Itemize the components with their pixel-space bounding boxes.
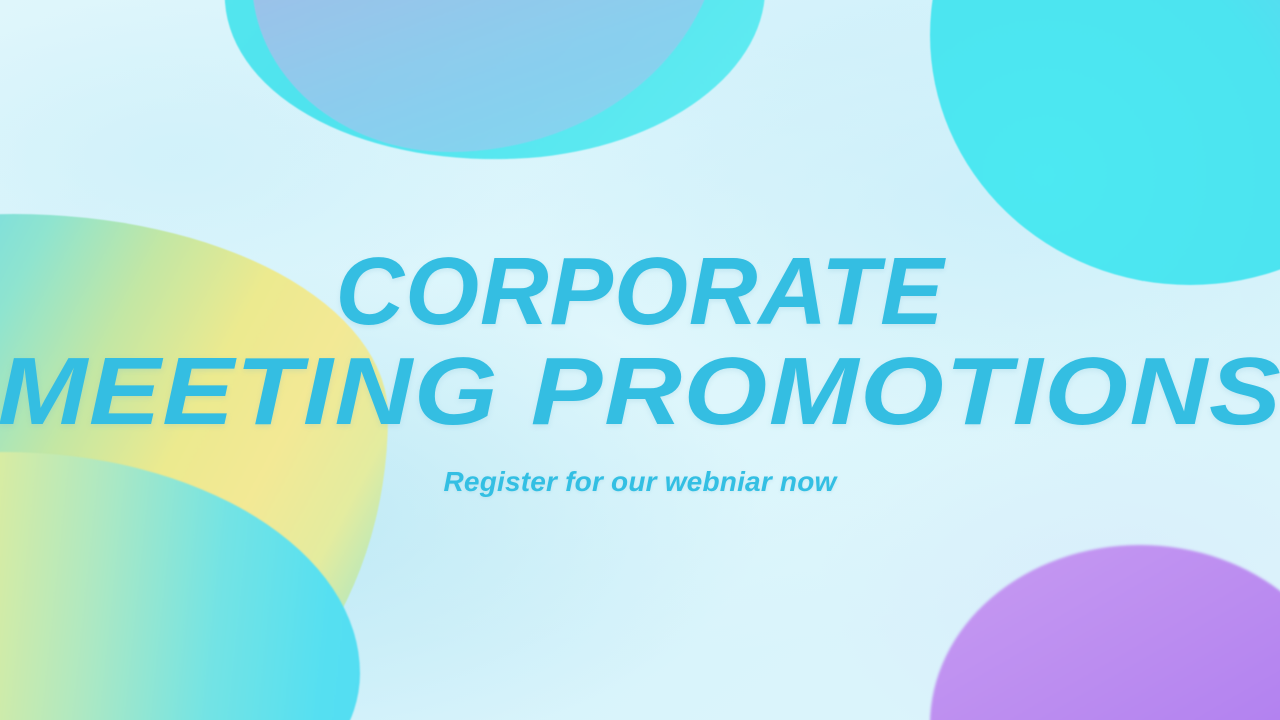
headline-line-2: MEETING PROMOTIONS: [0, 346, 1280, 438]
headline-line-1: CORPORATE: [6, 246, 1273, 338]
subheadline: Register for our webniar now: [0, 466, 1280, 498]
banner-text-block: CORPORATE MEETING PROMOTIONS Register fo…: [0, 246, 1280, 498]
promotional-banner: CORPORATE MEETING PROMOTIONS Register fo…: [0, 0, 1280, 720]
